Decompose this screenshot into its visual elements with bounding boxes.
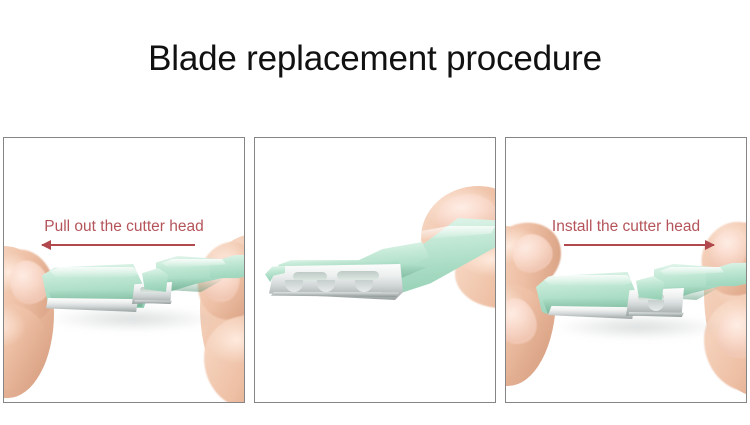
panel-3-caption: Install the cutter head	[506, 217, 746, 236]
arrow-head	[41, 240, 51, 250]
blade-cartridge-left	[548, 306, 634, 319]
arrow-line	[42, 244, 195, 246]
step-panel-1: Pull out the cutter head	[3, 137, 245, 403]
arrow-line	[564, 244, 714, 246]
cutter-head-highlight	[50, 267, 140, 278]
step-panel-2	[254, 137, 496, 403]
photo-pull-out-cutter-head	[4, 138, 244, 402]
panel-1-caption: Pull out the cutter head	[4, 217, 244, 236]
step-panel-3: Install the cutter head	[505, 137, 747, 403]
blade-slot-right	[337, 271, 379, 280]
photo-install-cutter-head	[506, 138, 746, 402]
arrow-head	[705, 240, 715, 250]
contact-shadow	[554, 314, 724, 340]
blade-cartridge-left	[46, 298, 138, 312]
panel-strip: Pull out the cutter head	[3, 137, 747, 403]
photo-cutter-head-detail	[255, 138, 495, 402]
arrow-left-icon	[42, 238, 195, 252]
blade-cutting-edge	[271, 292, 399, 297]
arrow-right-icon	[564, 238, 714, 252]
page-title: Blade replacement procedure	[0, 38, 750, 80]
cutter-head-highlight	[544, 275, 634, 286]
